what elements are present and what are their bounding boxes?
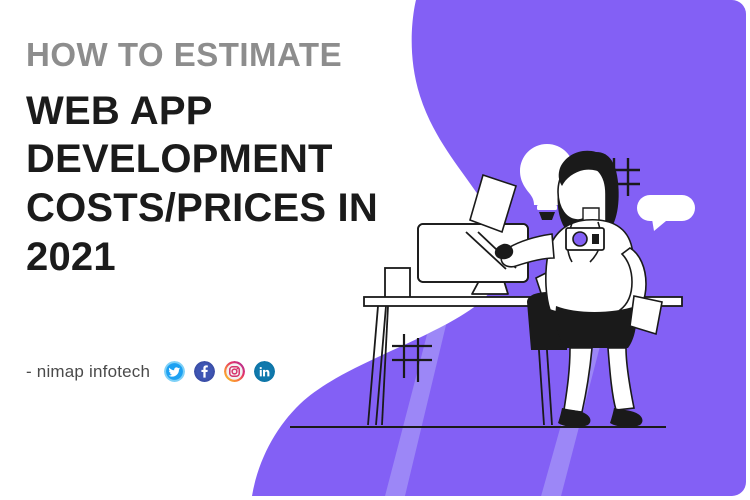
byline-text: - nimap infotech bbox=[26, 362, 150, 382]
headline-line-2: DEVELOPMENT bbox=[26, 135, 426, 184]
page-title: WEB APP DEVELOPMENT COSTS/PRICES IN 2021 bbox=[26, 87, 426, 282]
instagram-icon[interactable] bbox=[224, 361, 245, 382]
headline-line-1: WEB APP bbox=[26, 87, 426, 136]
headline-line-3: COSTS/PRICES IN bbox=[26, 184, 426, 233]
camera bbox=[566, 228, 604, 250]
kicker-text: HOW TO ESTIMATE bbox=[26, 38, 426, 73]
byline-row: - nimap infotech bbox=[26, 361, 275, 382]
facebook-icon[interactable] bbox=[194, 361, 215, 382]
headline-block: HOW TO ESTIMATE WEB APP DEVELOPMENT COST… bbox=[26, 38, 426, 282]
linkedin-icon[interactable] bbox=[254, 361, 275, 382]
twitter-icon[interactable] bbox=[164, 361, 185, 382]
social-links bbox=[164, 361, 275, 382]
banner-canvas: HOW TO ESTIMATE WEB APP DEVELOPMENT COST… bbox=[0, 0, 750, 500]
headline-line-4: 2021 bbox=[26, 233, 426, 282]
